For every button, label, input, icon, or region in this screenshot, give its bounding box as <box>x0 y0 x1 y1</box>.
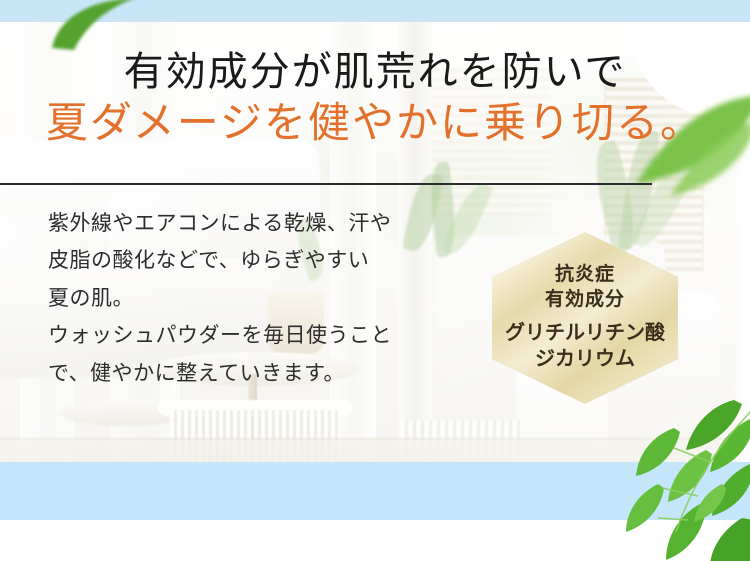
body-line: ウォッシュパウダーを毎日使うこと <box>48 317 478 354</box>
chair-spindles <box>170 410 340 462</box>
leaf-icon <box>48 0 140 52</box>
badge-label-line-2: 有効成分 <box>545 288 625 313</box>
badge-content: 抗炎症 有効成分 グリチルリチン酸 ジカリウム <box>492 232 678 404</box>
leaf-branch-icon <box>614 392 750 561</box>
body-line: 夏の肌。 <box>48 280 478 317</box>
body-line: 紫外線やエアコンによる乾燥、汗や <box>48 205 478 242</box>
side-table <box>60 400 190 426</box>
headline-line-1: 有効成分が肌荒れを防いで <box>0 48 750 95</box>
headline-line-2: 夏ダメージを健やかに乗り切る。 <box>0 99 750 149</box>
body-line: で、健やかに整えていきます。 <box>48 355 478 392</box>
body-line: 皮脂の酸化などで、ゆらぎやすい <box>48 242 478 279</box>
ingredient-badge: 抗炎症 有効成分 グリチルリチン酸 ジカリウム <box>492 232 678 404</box>
badge-label-line-1: 抗炎症 <box>555 263 615 288</box>
badge-ingredient-line-1: グリチルリチン酸 <box>505 320 665 346</box>
chair-back <box>158 400 353 416</box>
body-copy: 紫外線やエアコンによる乾燥、汗や 皮脂の酸化などで、ゆらぎやすい 夏の肌。 ウォ… <box>48 205 478 392</box>
divider-rule <box>0 183 652 185</box>
advertisement-banner: 有効成分が肌荒れを防いで 夏ダメージを健やかに乗り切る。 紫外線やエアコンによる… <box>0 0 750 561</box>
headline: 有効成分が肌荒れを防いで 夏ダメージを健やかに乗り切る。 <box>0 48 750 150</box>
chair-spindles <box>400 420 520 460</box>
badge-ingredient-line-2: ジカリウム <box>535 346 635 372</box>
